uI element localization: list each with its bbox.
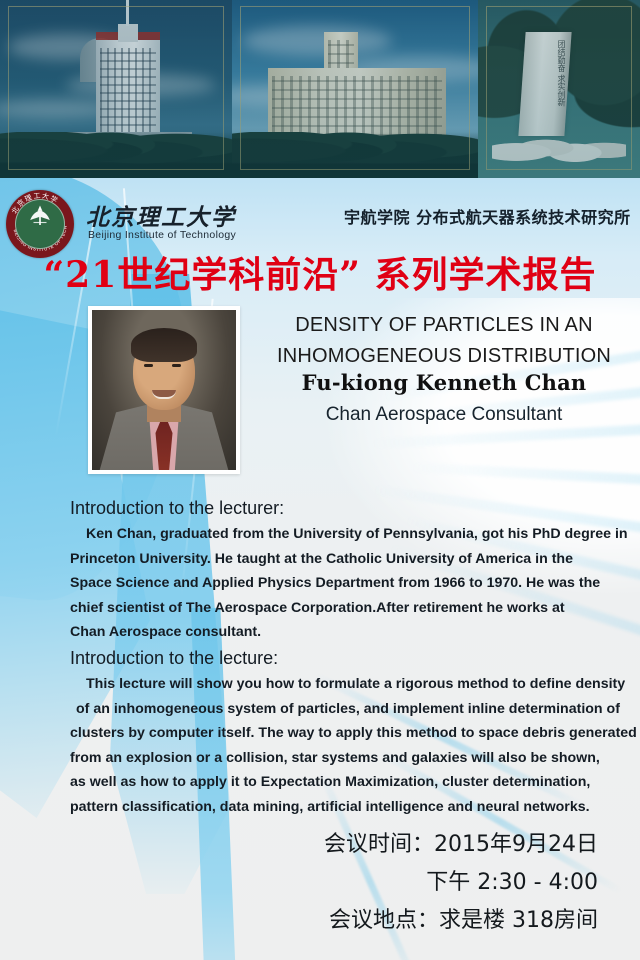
lecturer-line: Princeton University. He taught at the C…: [70, 547, 610, 572]
university-name-cn: 北京理工大学: [86, 198, 236, 232]
university-name-en: Beijing Institute of Technology: [88, 229, 236, 241]
tree-line: [232, 132, 478, 178]
department-name: 宇航学院 分布式航天器系统技术研究所: [344, 204, 631, 228]
lecture-line: of an inhomogeneous system of particles,…: [70, 697, 610, 722]
speaker-name: Fu-kiong Kenneth Chan: [256, 370, 632, 395]
lecture-line: from an explosion or a collision, star s…: [70, 746, 610, 771]
tree-line: [0, 132, 232, 178]
lecture-line: pattern classification, data mining, art…: [70, 795, 610, 820]
institution-header: 北京理工大学 BEIJING INSTITUTE OF TECHNOLOGY: [0, 182, 640, 242]
lecture-line: clusters by computer itself. The way to …: [70, 721, 610, 746]
lecturer-section-body: Ken Chan, graduated from the University …: [70, 522, 610, 645]
emblem-inner-disc: [15, 199, 65, 249]
talk-title-line-2: INHOMOGENEOUS DISTRIBUTION: [277, 345, 611, 367]
lecture-section-body: This lecture will show you how to formul…: [70, 672, 610, 819]
lecturer-section-heading: Introduction to the lecturer:: [70, 498, 284, 519]
lecturer-line: Space Science and Applied Physics Depart…: [70, 571, 610, 596]
talk-title-line-1: DENSITY OF PARTICLES IN AN: [295, 314, 593, 336]
series-title: “21世纪学科前沿” 系列学术报告: [0, 246, 640, 298]
speaker-affiliation: Chan Aerospace Consultant: [256, 404, 632, 426]
event-location: 会议地点：求是楼 318房间: [324, 902, 598, 940]
portrait-image: [92, 310, 236, 470]
monument-motto-text: 团结勤奋 求实创新: [528, 40, 566, 128]
event-details: 会议时间：2015年9月24日 下午 2:30 - 4:00 会议地点：求是楼 …: [324, 826, 598, 940]
poster-content: 北京理工大学 BEIJING INSTITUTE OF TECHNOLOGY: [0, 178, 640, 960]
lecture-section-heading: Introduction to the lecture:: [70, 648, 278, 669]
speaker-portrait-photo: [88, 306, 240, 474]
event-date: 会议时间：2015年9月24日: [324, 826, 598, 864]
lecturer-line: chief scientist of The Aerospace Corpora…: [70, 596, 610, 621]
bit-motto-monument-photo: 团结勤奋 求实创新: [478, 0, 640, 178]
dove-pine-icon: [27, 203, 53, 229]
lecturer-line: Ken Chan, graduated from the University …: [70, 522, 610, 547]
lecturer-line: Chan Aerospace consultant.: [70, 620, 610, 645]
campus-photo-banner: 团结勤奋 求实创新: [0, 0, 640, 178]
lecture-line: This lecture will show you how to formul…: [70, 672, 610, 697]
seminar-poster: 团结勤奋 求实创新: [0, 0, 640, 960]
portrait-eye: [144, 364, 153, 367]
event-time-range: 下午 2:30 - 4:00: [324, 864, 598, 902]
bit-teaching-building-photo: [232, 0, 478, 178]
cloud-shape: [242, 26, 392, 56]
portrait-hair: [131, 328, 197, 362]
lecture-line: as well as how to apply it to Expectatio…: [70, 770, 610, 795]
bit-main-tower-photo: [0, 0, 232, 178]
talk-title: DENSITY OF PARTICLES IN AN INHOMOGENEOUS…: [256, 310, 632, 372]
portrait-eye: [172, 364, 181, 367]
rock-base: [492, 124, 626, 164]
